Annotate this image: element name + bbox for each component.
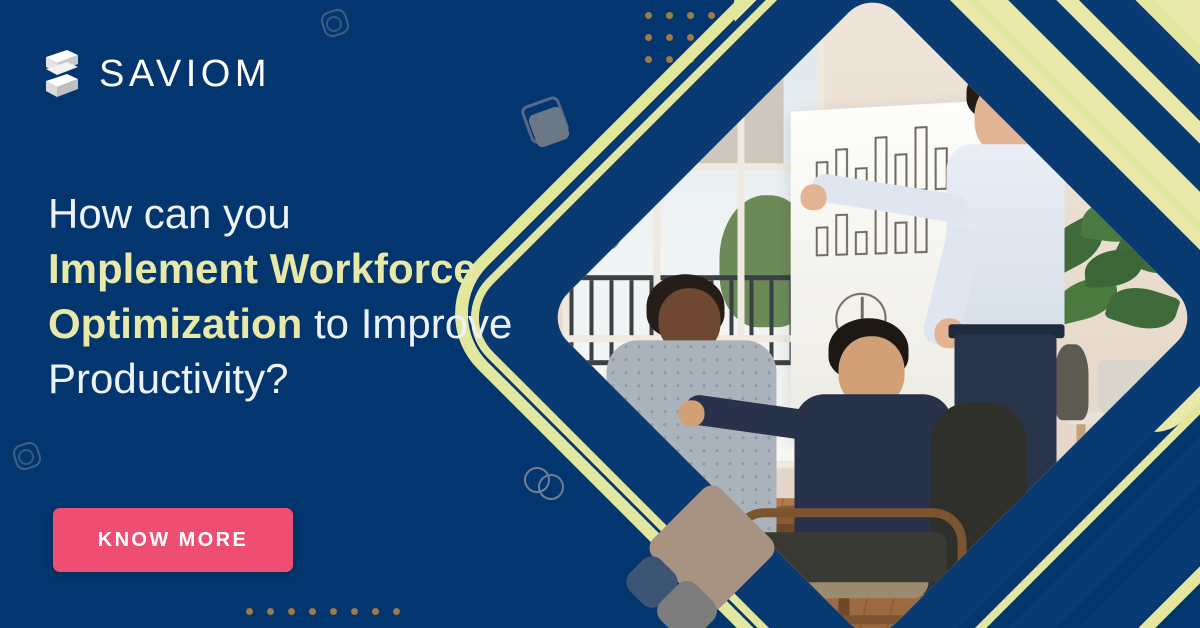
headline-highlight-2: Optimization bbox=[48, 300, 302, 347]
dot bbox=[687, 34, 694, 41]
dot bbox=[666, 12, 673, 19]
brand-logo[interactable]: SAVIOM bbox=[40, 48, 271, 100]
circle-decor-icon bbox=[18, 449, 34, 465]
brand-name: SAVIOM bbox=[99, 55, 271, 93]
dot bbox=[351, 608, 358, 615]
headline-line-1: How can you bbox=[48, 190, 291, 237]
dot bbox=[309, 608, 316, 615]
dot bbox=[645, 34, 652, 41]
dot bbox=[666, 34, 673, 41]
know-more-button[interactable]: KNOW MORE bbox=[53, 508, 293, 572]
dot bbox=[687, 12, 694, 19]
dot bbox=[330, 608, 337, 615]
headline-line-4: Productivity? bbox=[48, 355, 288, 402]
dot bbox=[372, 608, 379, 615]
circle-decor-icon bbox=[538, 474, 564, 500]
dot bbox=[393, 608, 400, 615]
saviom-cube-s-logo-icon bbox=[40, 48, 82, 100]
headline-line-3-rest: to Improve bbox=[302, 300, 512, 347]
headline-highlight-1: Implement Workforce bbox=[48, 245, 477, 292]
dot bbox=[246, 608, 253, 615]
dot bbox=[645, 12, 652, 19]
circle-decor-icon bbox=[326, 16, 342, 32]
dot bbox=[267, 608, 274, 615]
dot-grid-bottom bbox=[246, 608, 414, 618]
dot bbox=[645, 56, 652, 63]
dot bbox=[666, 56, 673, 63]
dot bbox=[708, 12, 715, 19]
dot bbox=[288, 608, 295, 615]
marketing-banner: SAVIOM How can you Implement Workforce O… bbox=[0, 0, 1200, 628]
headline: How can you Implement Workforce Optimiza… bbox=[48, 186, 578, 406]
